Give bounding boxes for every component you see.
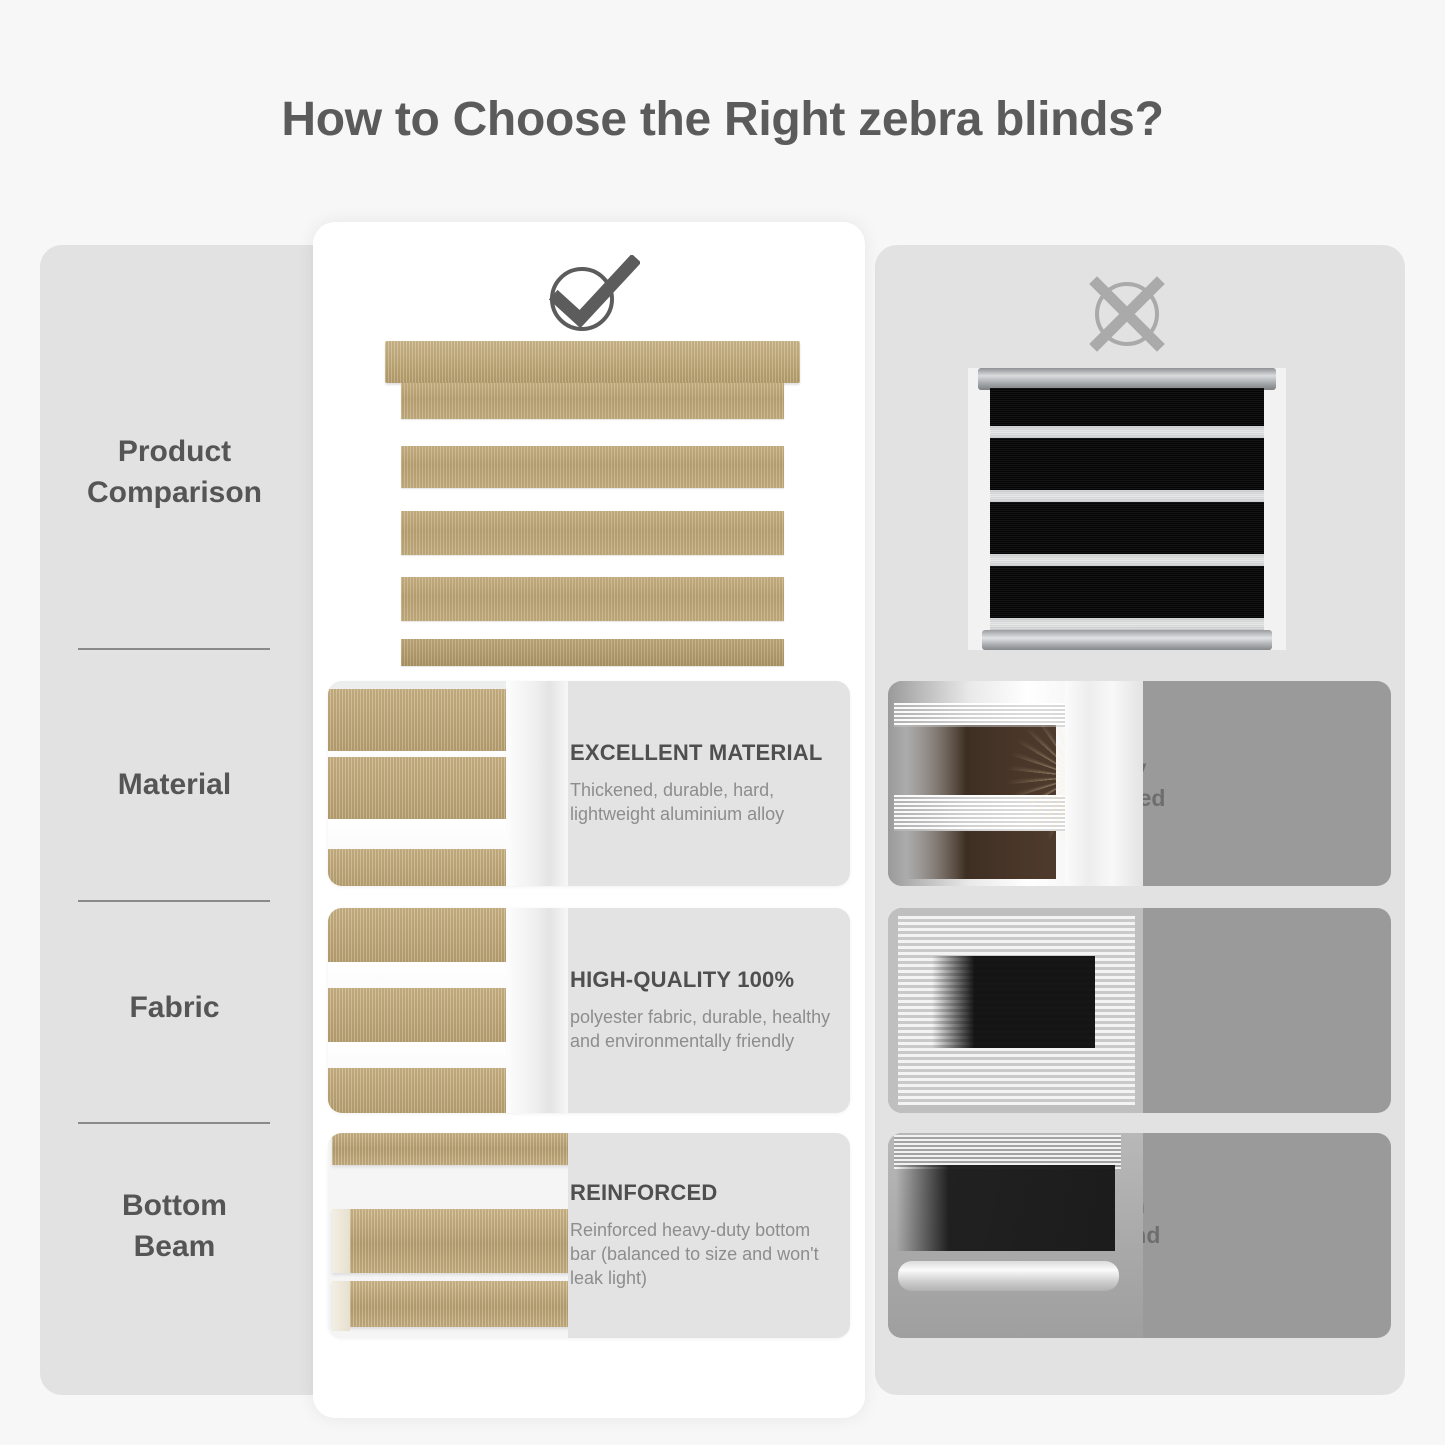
blind-louvers — [894, 1135, 1121, 1169]
good-material-body: Thickened, durable, hard, lightweight al… — [570, 779, 836, 827]
check-circle-icon — [540, 255, 640, 335]
row-divider-2 — [78, 900, 270, 902]
good-fabric-text: HIGH-QUALITY 100% polyester fabric, dura… — [570, 908, 850, 1113]
blind-gap — [328, 962, 506, 988]
bad-feature-card-material: Fragile material easily deformed and dam… — [888, 681, 1391, 886]
bad-feature-card-fabric: Made of colloidal material, harmful to h… — [888, 908, 1391, 1113]
window-frame — [506, 681, 568, 886]
blind-striped-body — [990, 388, 1264, 632]
window-frame — [506, 908, 568, 1113]
good-bottom-beam-body: Reinforced heavy-duty bottom bar (balanc… — [570, 1219, 836, 1291]
bad-fabric-photo — [888, 908, 1143, 1113]
dark-blind-area — [896, 1165, 1115, 1251]
reinforced-bottom-bar — [332, 1281, 568, 1327]
good-bottom-beam-photo — [328, 1133, 568, 1338]
bad-product-hero-image — [968, 368, 1286, 650]
row-label-line-2: Comparison — [62, 473, 287, 514]
blind-headrail — [978, 368, 1276, 390]
blind-slat — [401, 511, 784, 555]
beam-end-cap — [332, 1281, 350, 1331]
blind-slat — [401, 446, 784, 488]
blind-bottom-bar — [982, 630, 1272, 650]
good-fabric-title: HIGH-QUALITY 100% — [570, 967, 836, 993]
bad-material-photo — [888, 681, 1143, 886]
row-label-product-comparison: Product Comparison — [62, 432, 287, 513]
window-frame — [1065, 681, 1143, 886]
blind-slat — [332, 1209, 568, 1273]
page-title: How to Choose the Right zebra blinds? — [0, 92, 1445, 147]
row-label-bottom-beam: Bottom Beam — [62, 1186, 287, 1267]
blind-slat — [332, 1133, 568, 1165]
row-divider-3 — [78, 1122, 270, 1124]
good-bottom-beam-title: REINFORCED — [570, 1180, 836, 1206]
blind-slat — [328, 988, 506, 1042]
row-label-line-1: Bottom — [62, 1186, 287, 1227]
blind-slat — [328, 757, 506, 819]
blind-slat — [328, 849, 506, 886]
blind-bottom-bar — [401, 639, 784, 666]
blind-slat — [328, 1068, 506, 1113]
good-feature-card-bottom-beam: REINFORCED Reinforced heavy-duty bottom … — [328, 1133, 850, 1338]
blind-slat — [401, 577, 784, 621]
thin-bottom-rail — [898, 1261, 1119, 1291]
blind-gap — [328, 1042, 506, 1068]
row-divider-1 — [78, 648, 270, 650]
bad-bottom-beam-photo — [888, 1133, 1143, 1338]
blind-headrail — [385, 341, 800, 383]
blind-slat — [401, 383, 784, 419]
blind-slat — [328, 908, 506, 962]
blind-slat — [328, 689, 506, 751]
blind-gap — [328, 819, 506, 849]
good-product-hero-image — [385, 341, 800, 666]
good-feature-card-fabric: HIGH-QUALITY 100% polyester fabric, dura… — [328, 908, 850, 1113]
bad-feature-card-bottom-beam: Slotless bottom beam rails are thin, lea… — [888, 1133, 1391, 1338]
cross-circle-icon — [1085, 272, 1169, 356]
good-fabric-photo — [328, 908, 568, 1113]
row-label-fabric: Fabric — [62, 988, 287, 1029]
row-label-material: Material — [62, 765, 287, 806]
row-label-line-1: Product — [62, 432, 287, 473]
row-label-line-2: Beam — [62, 1227, 287, 1268]
good-material-text: EXCELLENT MATERIAL Thickened, durable, h… — [570, 681, 850, 886]
good-fabric-body: polyester fabric, durable, healthy and e… — [570, 1006, 836, 1054]
beam-end-cap — [332, 1209, 350, 1273]
good-material-photo — [328, 681, 568, 886]
good-material-title: EXCELLENT MATERIAL — [570, 740, 836, 766]
good-bottom-beam-text: REINFORCED Reinforced heavy-duty bottom … — [570, 1133, 850, 1338]
good-feature-card-material: EXCELLENT MATERIAL Thickened, durable, h… — [328, 681, 850, 886]
dark-blind-area — [932, 956, 1095, 1048]
